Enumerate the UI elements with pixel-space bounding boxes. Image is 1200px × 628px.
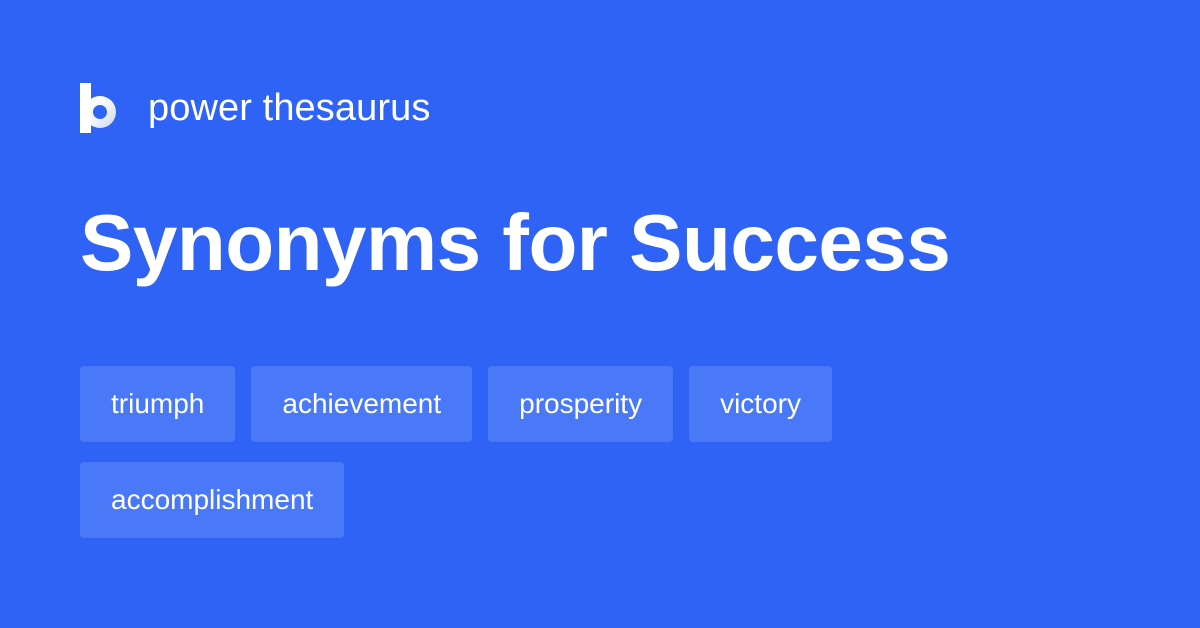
brand-header[interactable]: power thesaurus bbox=[80, 80, 430, 136]
synonym-chip[interactable]: prosperity bbox=[488, 366, 673, 442]
page-title: Synonyms for Success bbox=[80, 196, 950, 290]
power-thesaurus-b-logo-icon bbox=[80, 83, 124, 133]
synonym-chip[interactable]: triumph bbox=[80, 366, 235, 442]
brand-name: power thesaurus bbox=[148, 89, 430, 127]
synonym-chip[interactable]: victory bbox=[689, 366, 832, 442]
synonym-chip-list: triumph achievement prosperity victory a… bbox=[80, 366, 1080, 538]
social-card: power thesaurus Synonyms for Success tri… bbox=[0, 0, 1200, 628]
synonym-chip[interactable]: achievement bbox=[251, 366, 472, 442]
synonym-chip[interactable]: accomplishment bbox=[80, 462, 344, 538]
